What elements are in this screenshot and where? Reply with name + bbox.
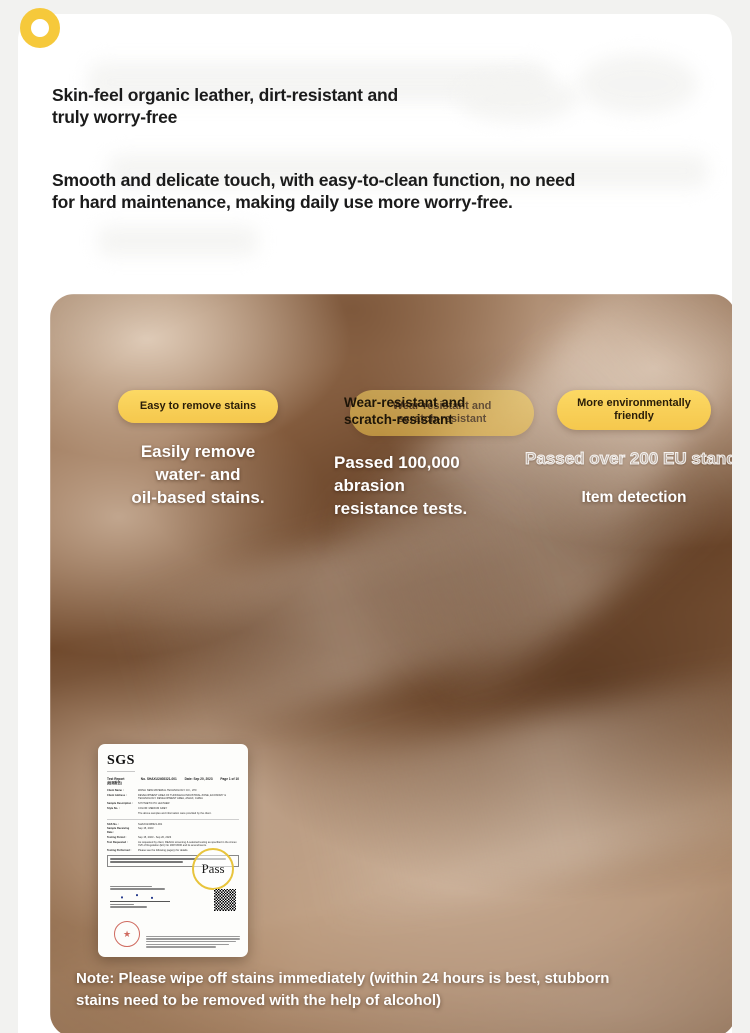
certificate-row: SGS No. :SHAXU2408321-001 [107, 823, 239, 826]
feature-desc-line: Passed 100,000 [334, 452, 534, 475]
feature-description-stains: Easily remove water- and oil-based stain… [78, 441, 318, 510]
certificate-report-title: Test Report (检测报告) [107, 777, 133, 785]
certificate-report-number: No. SHAXU2408321-001 [141, 777, 177, 781]
certificate-row-value: As requested by client, REACH screening … [138, 841, 239, 848]
hero-leather-image: Easy to remove stains Easily remove wate… [50, 294, 732, 1033]
certificate-row-value: Sep 15, 2023 - Sep 20, 2023 [138, 836, 239, 839]
feature-outline-headline-eu: Passed over 200 EU standards [525, 448, 732, 471]
certificate-row-value: COLOR: MEDIUM GREY [138, 807, 239, 810]
certificate-row: The above samples and information were p… [107, 812, 239, 815]
badge-easy-to-remove-stains: Easy to remove stains [118, 390, 278, 423]
feature-desc-line: Easily remove [78, 441, 318, 464]
certificate-row: Sample Description :SYNTHETIC PU LEATHER [107, 802, 239, 805]
badge-line: friendly [614, 410, 654, 422]
certificate-field-rows: Client Name :WANLI NEW MATERIAL TECHNOLO… [107, 789, 239, 852]
certificate-row-label: Client Name : [107, 789, 134, 792]
certificate-row-label: Sample Receiving Date : [107, 827, 134, 834]
certificate-row: Client Address :DEVELOPMENT AREA OF THON… [107, 794, 239, 801]
page-subtitle: Smooth and delicate touch, with easy-to-… [52, 169, 702, 214]
certificate-row-value: Sep 15, 2023 [138, 827, 239, 834]
certificate-report-date: Date: Sep 20, 2023 [185, 777, 213, 781]
page-title-line-1: Skin-feel organic leather, dirt-resistan… [52, 84, 702, 106]
certificate-divider [107, 819, 239, 820]
certificate-row-label: Test Requested : [107, 841, 134, 848]
certificate-row-label: Client Address : [107, 794, 134, 801]
page-subtitle-line-1: Smooth and delicate touch, with easy-to-… [52, 169, 702, 191]
feature-column-eco: More environmentally friendly Passed ove… [534, 390, 732, 521]
certificate-row-label: Testing Period : [107, 836, 134, 839]
certificate-row: Sample Receiving Date :Sep 15, 2023 [107, 827, 239, 834]
qr-code [214, 889, 236, 911]
feature-subtext-item-detection: Item detection [534, 489, 732, 507]
feature-desc-line: abrasion [334, 475, 534, 498]
certificate-row-value: WANLI NEW MATERIAL TECHNOLOGY CO., LTD [138, 789, 239, 792]
product-detail-card: Skin-feel organic leather, dirt-resistan… [18, 14, 732, 1033]
certificate-row-label: Sample Description : [107, 802, 134, 805]
certificate-row: Test Requested :As requested by client, … [107, 841, 239, 848]
feature-column-wear: Wear-resistant and scratch-resistant Wea… [334, 390, 534, 521]
care-note-line-2: stains need to be removed with the help … [76, 990, 706, 1011]
feature-desc-line: oil-based stains. [78, 487, 318, 510]
sgs-test-report-certificate[interactable]: SGS Test Report (检测报告) No. SHAXU2408321-… [98, 744, 248, 957]
feature-description-wear: Passed 100,000 abrasion resistance tests… [334, 452, 534, 521]
certificate-footer [146, 936, 240, 949]
feature-label-line: scratch-resistant [344, 412, 465, 429]
certificate-row-label: SGS No. : [107, 823, 134, 826]
certificate-row-label: Style No. : [107, 807, 134, 810]
official-seal [114, 921, 140, 947]
certificate-row-value: SHAXU2408321-001 [138, 823, 239, 826]
badge-line: More environmentally [577, 397, 691, 409]
feature-label-wear: Wear-resistant and scratch-resistant [344, 395, 465, 429]
watermark-shape [98, 226, 258, 256]
certificate-header: Test Report (检测报告) No. SHAXU2408321-001 … [107, 777, 239, 785]
feature-desc-line: resistance tests. [334, 498, 534, 521]
badge-wear-resistant-wrap: Wear-resistant and scratch-resistant Wea… [334, 390, 534, 434]
sgs-logo: SGS [107, 753, 135, 772]
certificate-page-number: Page 1 of 10 [220, 777, 239, 781]
certificate-row-label: Testing Performed : [107, 849, 134, 852]
feature-desc-line: water- and [78, 464, 318, 487]
care-note: Note: Please wipe off stains immediately… [76, 968, 706, 1011]
brand-ring-logo-icon [20, 8, 60, 48]
badge-more-environmentally-friendly: More environmentally friendly [557, 390, 711, 430]
page-title: Skin-feel organic leather, dirt-resistan… [52, 84, 702, 129]
certificate-row-value: DEVELOPMENT AREA OF THONGHUA INDUSTRIAL … [138, 794, 239, 801]
certificate-row: Testing Period :Sep 15, 2023 - Sep 20, 2… [107, 836, 239, 839]
ring-shape [20, 8, 60, 48]
certificate-row-value: The above samples and information were p… [138, 812, 239, 815]
page-title-line-2: truly worry-free [52, 106, 702, 128]
certificate-row: Client Name :WANLI NEW MATERIAL TECHNOLO… [107, 789, 239, 792]
feature-column-stains: Easy to remove stains Easily remove wate… [78, 390, 318, 521]
certificate-row-label [107, 812, 134, 815]
feature-label-line: Wear-resistant and [344, 395, 465, 412]
page-subtitle-line-2: for hard maintenance, making daily use m… [52, 191, 702, 213]
certificate-row-value: SYNTHETIC PU LEATHER [138, 802, 239, 805]
pass-stamp: Pass [192, 848, 234, 890]
certificate-row: Style No. :COLOR: MEDIUM GREY [107, 807, 239, 810]
certificate-signature [110, 886, 170, 909]
feature-columns: Easy to remove stains Easily remove wate… [50, 390, 732, 521]
signature-scribble [110, 892, 170, 902]
care-note-line-1: Note: Please wipe off stains immediately… [76, 968, 706, 989]
